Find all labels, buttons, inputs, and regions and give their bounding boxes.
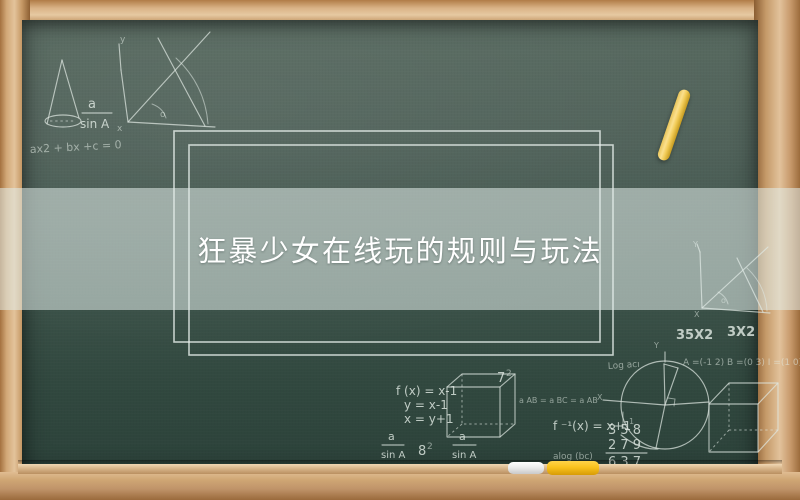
chalkboard-banner: .cl{fill:none;stroke:#dfe8e2;stroke-opac… bbox=[0, 0, 800, 500]
frame-bottom-rail bbox=[0, 472, 800, 500]
page-title: 狂暴少女在线玩的规则与玩法 bbox=[197, 228, 603, 270]
ledge-chalk-yellow bbox=[547, 461, 599, 475]
chalk-ledge bbox=[18, 464, 782, 474]
ledge-chalk-white bbox=[508, 462, 544, 474]
title-band: 狂暴少女在线玩的规则与玩法 bbox=[0, 188, 800, 310]
